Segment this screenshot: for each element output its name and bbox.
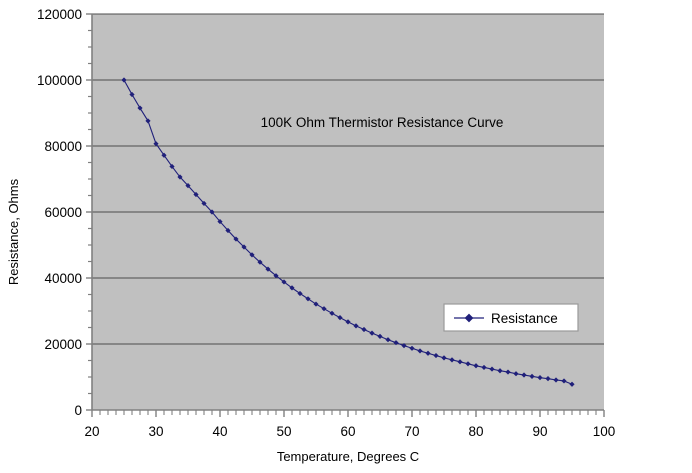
y-tick-label: 0 bbox=[74, 403, 82, 418]
y-tick-label: 120000 bbox=[37, 7, 82, 22]
y-tick-label: 100000 bbox=[37, 73, 82, 88]
legend[interactable]: Resistance bbox=[444, 304, 578, 331]
x-tick-label: 90 bbox=[532, 424, 547, 439]
chart-container: 020000400006000080000100000120000 203040… bbox=[0, 0, 692, 473]
x-tick-label: 40 bbox=[212, 424, 227, 439]
x-tick-label: 70 bbox=[404, 424, 419, 439]
y-tick-label: 60000 bbox=[44, 205, 82, 220]
chart-title: 100K Ohm Thermistor Resistance Curve bbox=[261, 115, 504, 130]
x-tick-label: 30 bbox=[148, 424, 163, 439]
x-tick-label: 50 bbox=[276, 424, 291, 439]
legend-label-resistance: Resistance bbox=[491, 311, 558, 326]
y-axis-title: Resistance, Ohms bbox=[6, 178, 21, 285]
x-tick-label: 100 bbox=[593, 424, 616, 439]
x-tick-label: 80 bbox=[468, 424, 483, 439]
y-tick-label: 40000 bbox=[44, 271, 82, 286]
y-tick-label: 80000 bbox=[44, 139, 82, 154]
y-tick-label: 20000 bbox=[44, 337, 82, 352]
x-tick-label: 60 bbox=[340, 424, 355, 439]
x-tick-label: 20 bbox=[84, 424, 99, 439]
thermistor-resistance-chart: 020000400006000080000100000120000 203040… bbox=[0, 0, 692, 473]
x-axis-title: Temperature, Degrees C bbox=[277, 449, 419, 464]
